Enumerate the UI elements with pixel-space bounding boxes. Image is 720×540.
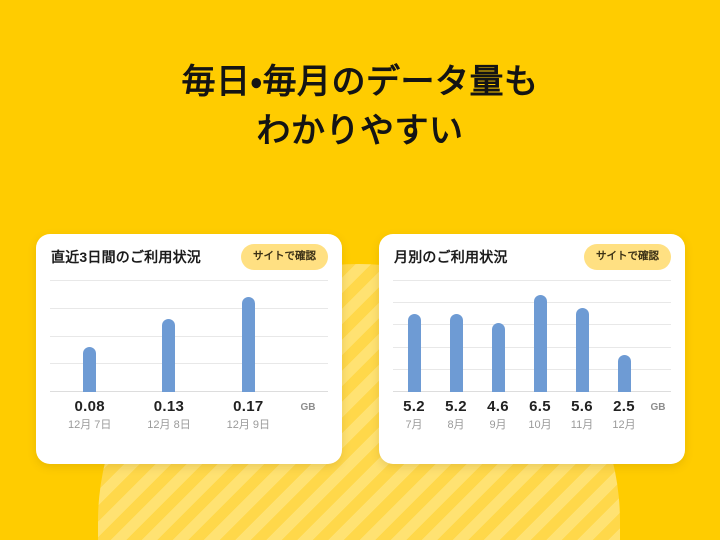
bar-period-label: 9月 [477, 417, 519, 435]
chart-plot-area [50, 280, 328, 392]
unit-label: GB [288, 398, 328, 415]
bar [576, 308, 589, 392]
bar-slot [603, 280, 645, 392]
bar-period-label: 12月 8日 [129, 417, 208, 435]
label-slot: 0.0812月 7日 [50, 398, 129, 434]
bar [83, 347, 96, 392]
label-slot: 2.512月 [603, 398, 645, 434]
headline-line-1: 毎日・毎月のデータ量も [0, 58, 720, 107]
chart-bars [393, 280, 671, 392]
bar-value-label: 0.08 [50, 398, 129, 417]
bar [242, 297, 255, 392]
bar [162, 319, 175, 392]
bar [618, 355, 631, 392]
bar-value-label: 5.2 [393, 398, 435, 417]
bar-value-label: 5.6 [561, 398, 603, 417]
bar-period-label: 10月 [519, 417, 561, 435]
check-on-site-button[interactable]: サイトで確認 [584, 244, 671, 270]
bar [534, 295, 547, 392]
bar [408, 314, 421, 392]
card-header: 月別のご利用状況 サイトで確認 [379, 234, 685, 280]
bar-value-label: 5.2 [435, 398, 477, 417]
label-slot: 5.611月 [561, 398, 603, 434]
bar-period-label: 12月 9日 [209, 417, 288, 435]
label-slot: 5.28月 [435, 398, 477, 434]
promo-canvas: 毎日・毎月のデータ量も わかりやすい 直近3日間のご利用状況 サイトで確認 0.… [0, 0, 720, 540]
chart-labels: 0.0812月 7日0.1312月 8日0.1712月 9日GB [50, 392, 328, 434]
bar-slot [209, 280, 288, 392]
card-header: 直近3日間のご利用状況 サイトで確認 [36, 234, 342, 280]
bar-period-label: 11月 [561, 417, 603, 435]
bar-value-label: 4.6 [477, 398, 519, 417]
chart-plot-area [393, 280, 671, 392]
card-title: 月別のご利用状況 [394, 247, 508, 267]
bar [492, 323, 505, 392]
bar-value-label: 0.17 [209, 398, 288, 417]
bar-slot [50, 280, 129, 392]
unit-label: GB [645, 398, 671, 415]
bar-period-label: 7月 [393, 417, 435, 435]
bar-slot [519, 280, 561, 392]
bar-slot [393, 280, 435, 392]
unit-spacer [288, 280, 328, 392]
card-title: 直近3日間のご利用状況 [51, 247, 201, 267]
bar-slot [477, 280, 519, 392]
bar-slot [561, 280, 603, 392]
bar-value-label: 0.13 [129, 398, 208, 417]
unit-spacer [645, 280, 671, 392]
card-daily-usage: 直近3日間のご利用状況 サイトで確認 0.0812月 7日0.1312月 8日0… [36, 234, 342, 464]
page-title: 毎日・毎月のデータ量も わかりやすい [0, 58, 720, 157]
bar-slot [129, 280, 208, 392]
bar [450, 314, 463, 392]
check-on-site-button[interactable]: サイトで確認 [241, 244, 328, 270]
label-slot: 0.1312月 8日 [129, 398, 208, 434]
label-slot: 4.69月 [477, 398, 519, 434]
label-slot: 0.1712月 9日 [209, 398, 288, 434]
chart-bars [50, 280, 328, 392]
bar-value-label: 2.5 [603, 398, 645, 417]
bar-slot [435, 280, 477, 392]
label-slot: 6.510月 [519, 398, 561, 434]
headline-line-2: わかりやすい [0, 107, 720, 156]
bar-period-label: 12月 7日 [50, 417, 129, 435]
card-monthly-usage: 月別のご利用状況 サイトで確認 5.27月5.28月4.69月6.510月5.6… [379, 234, 685, 464]
unit-slot: GB [645, 398, 671, 434]
bar-value-label: 6.5 [519, 398, 561, 417]
unit-slot: GB [288, 398, 328, 434]
label-slot: 5.27月 [393, 398, 435, 434]
chart-labels: 5.27月5.28月4.69月6.510月5.611月2.512月GB [393, 392, 671, 434]
bar-period-label: 8月 [435, 417, 477, 435]
bar-period-label: 12月 [603, 417, 645, 435]
